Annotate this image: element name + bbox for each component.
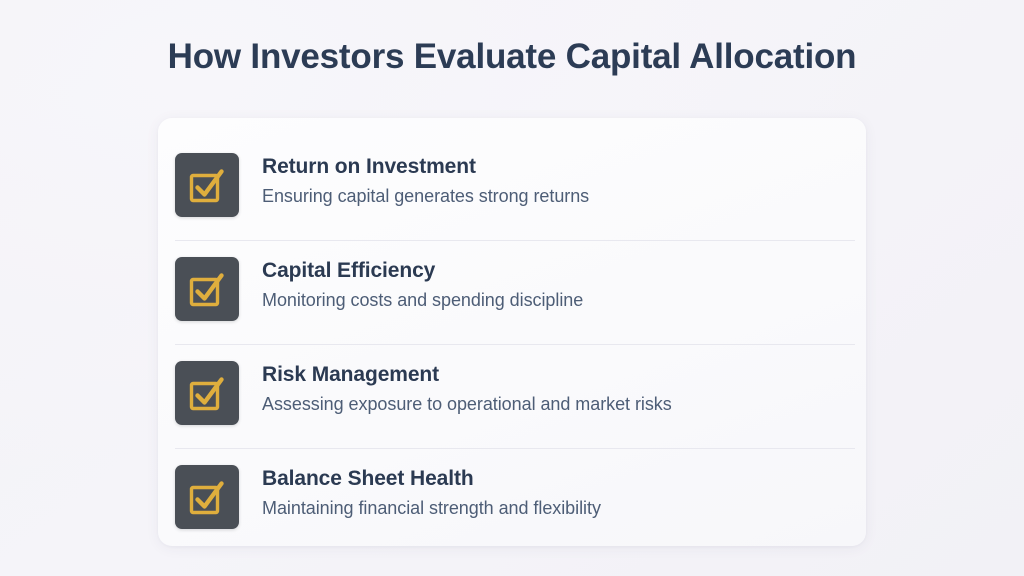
list-item-title: Risk Management [262,363,439,386]
checklist: Return on Investment Ensuring capital ge… [158,136,866,552]
list-item-description: Ensuring capital generates strong return… [262,185,589,208]
slide-root: How Investors Evaluate Capital Allocatio… [0,0,1024,576]
list-item-text: Capital Efficiency Monitoring costs and … [239,256,583,312]
list-item-text: Balance Sheet Health Maintaining financi… [239,464,601,520]
checklist-card: Return on Investment Ensuring capital ge… [158,118,866,546]
checkbox-check-icon [175,257,239,321]
list-item[interactable]: Risk Management Assessing exposure to op… [158,344,866,448]
list-item[interactable]: Capital Efficiency Monitoring costs and … [158,240,866,344]
list-item-description: Assessing exposure to operational and ma… [262,393,672,416]
list-item-title: Capital Efficiency [262,259,435,282]
list-item-description: Monitoring costs and spending discipline [262,289,583,312]
list-item[interactable]: Balance Sheet Health Maintaining financi… [158,448,866,552]
checkbox-check-icon [175,361,239,425]
list-item-title: Return on Investment [262,155,476,178]
list-item-description: Maintaining financial strength and flexi… [262,497,601,520]
list-item-text: Return on Investment Ensuring capital ge… [239,152,589,208]
list-item-text: Risk Management Assessing exposure to op… [239,360,672,416]
page-title: How Investors Evaluate Capital Allocatio… [0,36,1024,78]
checkbox-check-icon [175,465,239,529]
list-item-title: Balance Sheet Health [262,467,474,490]
list-item[interactable]: Return on Investment Ensuring capital ge… [158,136,866,240]
checkbox-check-icon [175,153,239,217]
